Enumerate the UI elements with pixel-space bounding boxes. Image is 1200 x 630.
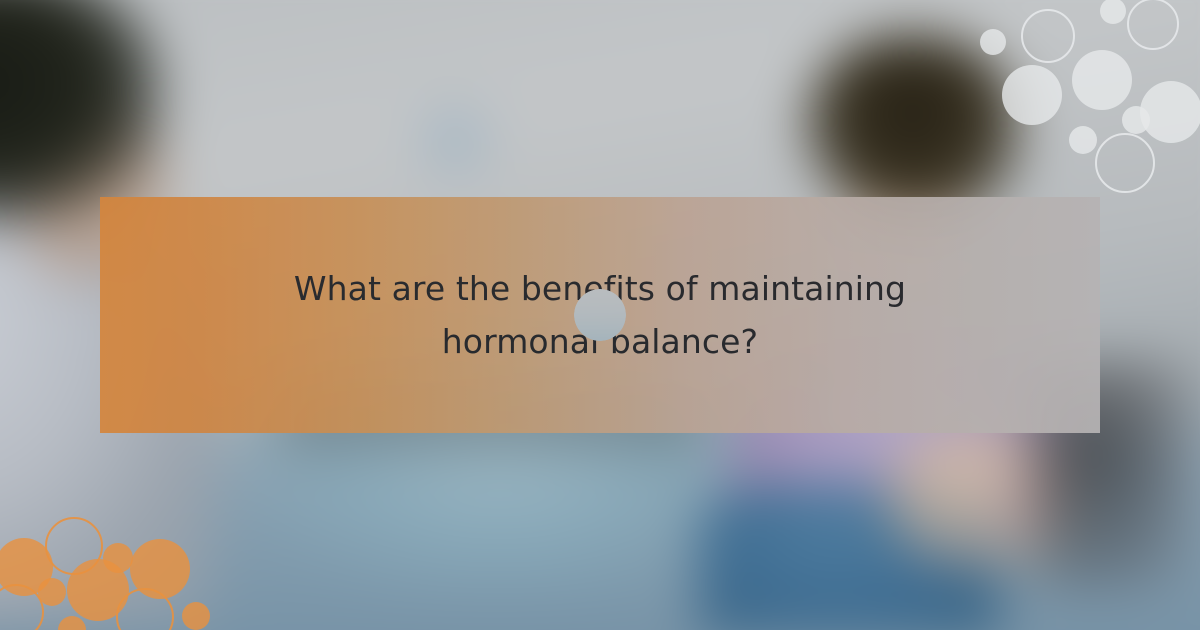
question-text: What are the benefits of maintaining hor… [254,262,946,369]
question-card-graphic: What are the benefits of maintaining hor… [0,0,1200,630]
question-line-1: What are the benefits of maintaining [294,269,906,308]
question-card: What are the benefits of maintaining hor… [100,197,1100,433]
background-blue-blob [410,95,500,185]
question-line-2: hormonal balance? [442,322,758,361]
